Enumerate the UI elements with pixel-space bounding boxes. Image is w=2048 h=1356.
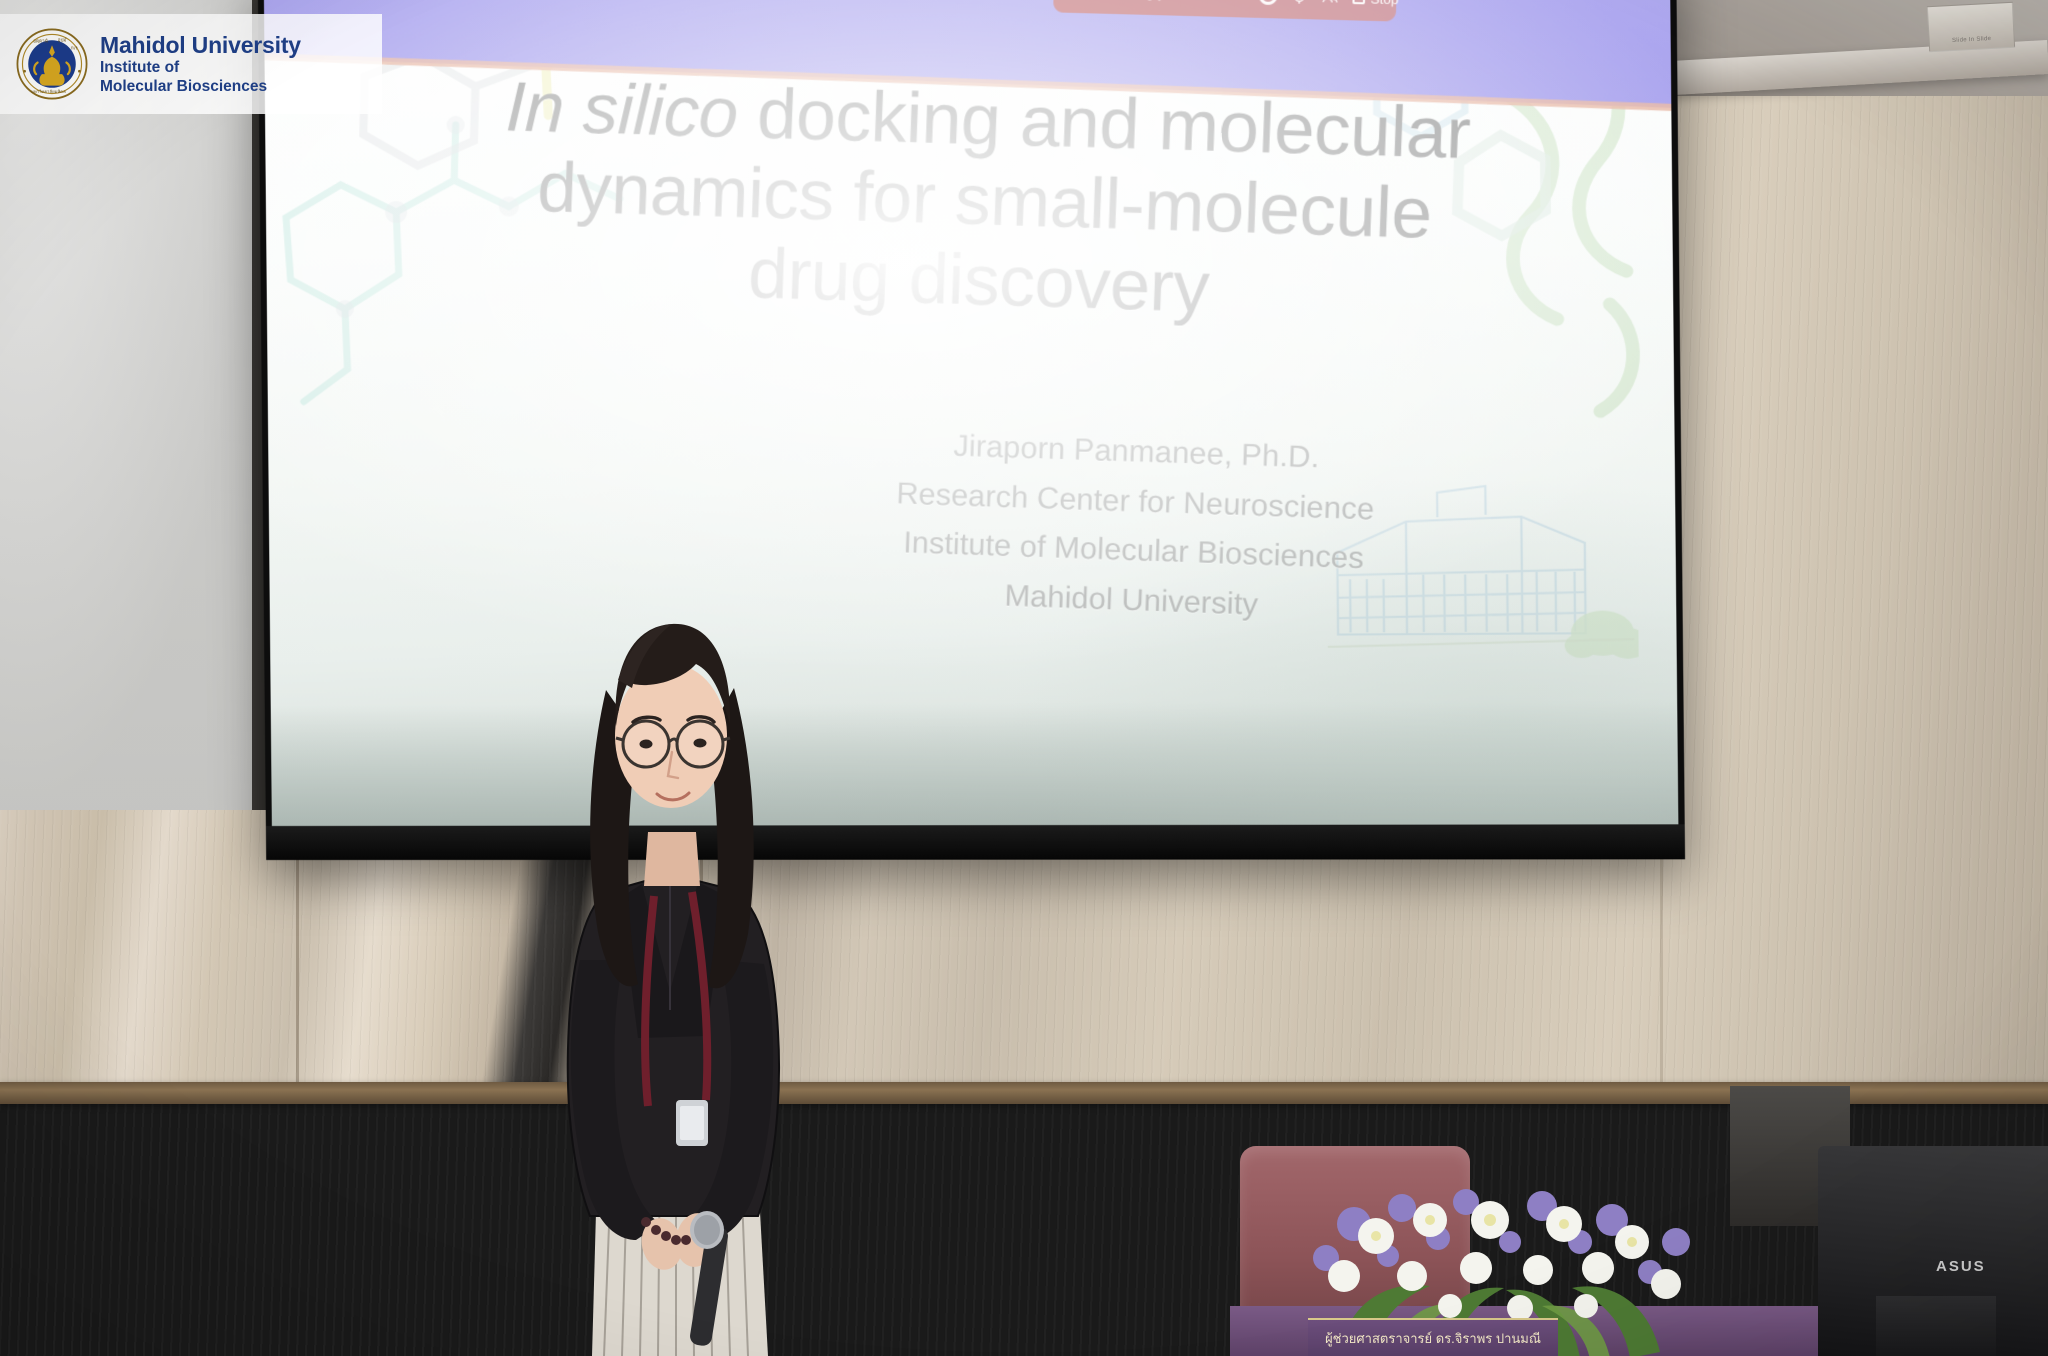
- slide-title: In silico docking and molecular dynamics…: [412, 65, 1562, 340]
- record-icon[interactable]: [1257, 0, 1281, 7]
- microphone-icon[interactable]: [1288, 0, 1312, 8]
- ceiling-box-label: Slide In Slide: [1930, 35, 2014, 45]
- desk-monitor: ASUS: [1818, 1146, 2048, 1356]
- watermark-overlay: อตฺตานํ อุปมํ กเร มหาวิทยาลัยมหิดล Mahid…: [0, 14, 382, 114]
- watermark-unit-line-1: Institute of: [100, 59, 301, 77]
- projection-screen-bottom-bar: [266, 824, 1685, 860]
- svg-text:กเร: กเร: [71, 46, 78, 52]
- projection-screen-surface: สถาบันชีววิทยาศาสตร์โมเลกุล In silico do…: [264, 0, 1679, 826]
- ceiling-mount-box: Slide In Slide: [1927, 2, 2015, 52]
- monitor-stand: [1876, 1296, 1996, 1356]
- presentation-slide: สถาบันชีววิทยาศาสตร์โมเลกุล In silico do…: [264, 0, 1679, 826]
- lecture-hall-photo: Slide In Slide: [0, 0, 2048, 1356]
- monitor-brand-label: ASUS: [1936, 1258, 1986, 1275]
- watermark-organization: Mahidol University: [100, 32, 301, 59]
- wall-left-plaster: [0, 0, 252, 810]
- watermark-text-block: Mahidol University Institute of Molecula…: [100, 32, 301, 96]
- screen-icon: [1353, 0, 1366, 4]
- mahidol-university-seal-icon: อตฺตานํ อุปมํ กเร มหาวิทยาลัยมหิดล: [16, 28, 88, 100]
- stop-button-label: Stop: [1370, 0, 1399, 7]
- people-icon[interactable]: [1319, 0, 1343, 9]
- chevron-down-icon[interactable]: ⌄: [1239, 0, 1249, 2]
- stop-sharing-button[interactable]: Stop: [1353, 0, 1399, 7]
- svg-text:อตฺตานํ: อตฺตานํ: [33, 38, 48, 44]
- watermark-unit-line-2: Molecular Biosciences: [100, 78, 301, 96]
- svg-text:อุปมํ: อุปมํ: [58, 38, 67, 44]
- sharing-status-text: You're sharing your screen: [1066, 0, 1231, 2]
- slide-bottom-light-spill: [271, 701, 1679, 826]
- slide-author-block: Jiraporn Panmanee, Ph.D. Research Center…: [740, 415, 1533, 639]
- nameplate-text: ผู้ช่วยศาสตราจารย์ ดร.จิราพร ปานมณี: [1325, 1328, 1541, 1349]
- speaker-nameplate: ผู้ช่วยศาสตราจารย์ ดร.จิราพร ปานมณี: [1308, 1318, 1558, 1356]
- slide-title-italic: In silico: [505, 67, 740, 152]
- speaker-person: [520, 540, 850, 1356]
- projection-screen: สถาบันชีววิทยาศาสตร์โมเลกุล In silico do…: [258, 0, 1685, 860]
- svg-text:มหาวิทยาลัยมหิดล: มหาวิทยาลัยมหิดล: [31, 89, 66, 95]
